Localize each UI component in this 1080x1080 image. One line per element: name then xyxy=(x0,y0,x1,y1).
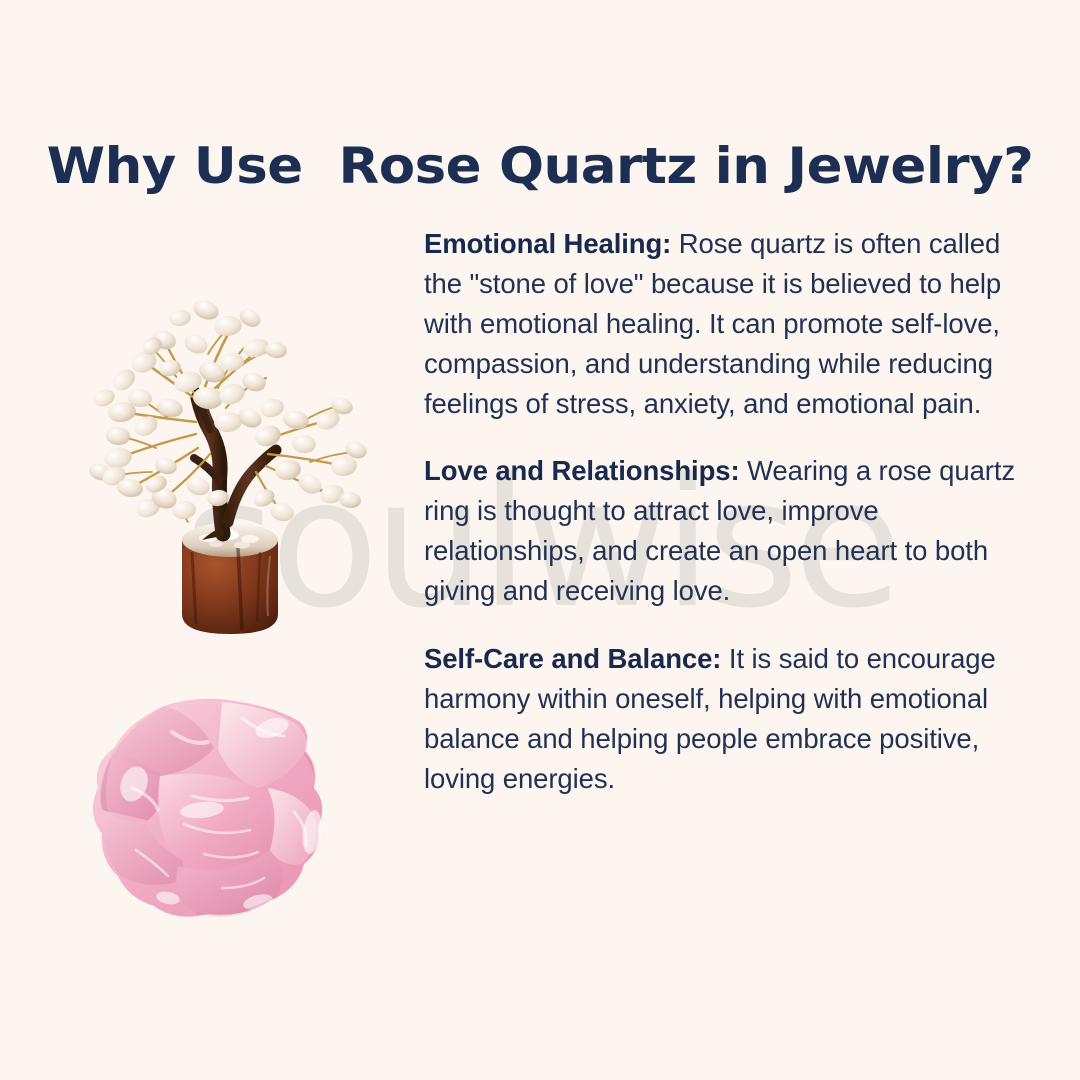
section-emotional-healing: Emotional Healing: Rose quartz is often … xyxy=(424,224,1016,424)
section-heading: Self-Care and Balance: xyxy=(424,643,721,674)
section-heading: Emotional Healing: xyxy=(424,228,671,259)
section-love-and-relationships: Love and Relationships: Wearing a rose q… xyxy=(424,451,1016,611)
tree-log-base xyxy=(182,523,278,634)
infographic-canvas: soulwise Why Use Rose Quartz in Jewelry? xyxy=(0,0,1080,1080)
rose-quartz-stone-image xyxy=(72,692,362,942)
gemstone-tree-image xyxy=(60,222,400,642)
section-self-care-and-balance: Self-Care and Balance: It is said to enc… xyxy=(424,639,1016,799)
page-title: Why Use Rose Quartz in Jewelry? xyxy=(0,137,1080,195)
content-column: Emotional Healing: Rose quartz is often … xyxy=(424,196,1016,826)
section-heading: Love and Relationships: xyxy=(424,455,740,486)
